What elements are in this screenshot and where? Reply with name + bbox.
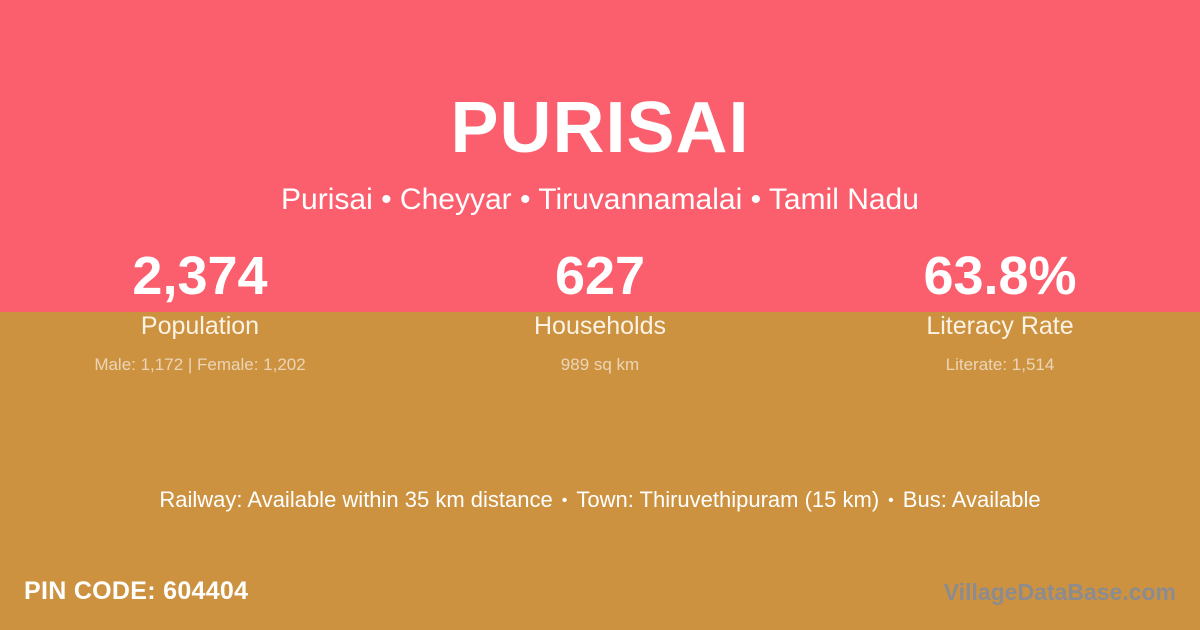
amenity-town: Town: Thiruvethipuram (15 km): [576, 487, 879, 512]
amenity-separator-1: •: [553, 492, 577, 509]
amenities-line: Railway: Available within 35 km distance…: [0, 485, 1200, 516]
pin-code: PIN CODE: 604404: [24, 575, 248, 607]
stat-sublabel: Male: 1,172 | Female: 1,202: [0, 353, 400, 377]
amenity-separator-2: •: [879, 492, 903, 509]
stat-label: Households: [400, 309, 800, 343]
page-title: PURISAI: [0, 86, 1200, 170]
stat-population: 2,374 Population Male: 1,172 | Female: 1…: [0, 244, 400, 377]
stat-value: 63.8%: [800, 244, 1200, 308]
stat-sublabel: 989 sq km: [400, 353, 800, 377]
breadcrumb: Purisai • Cheyyar • Tiruvannamalai • Tam…: [0, 182, 1200, 218]
amenity-bus: Bus: Available: [903, 487, 1041, 512]
stat-label: Literacy Rate: [800, 309, 1200, 343]
stat-value: 627: [400, 244, 800, 308]
village-info-card: PURISAI Purisai • Cheyyar • Tiruvannamal…: [0, 0, 1200, 630]
stats-row: 2,374 Population Male: 1,172 | Female: 1…: [0, 244, 1200, 377]
amenity-railway: Railway: Available within 35 km distance: [159, 487, 552, 512]
site-watermark: VillageDataBase.com: [944, 577, 1176, 607]
stat-literacy-rate: 63.8% Literacy Rate Literate: 1,514: [800, 244, 1200, 377]
stat-label: Population: [0, 309, 400, 343]
stat-sublabel: Literate: 1,514: [800, 353, 1200, 377]
card-content: PURISAI Purisai • Cheyyar • Tiruvannamal…: [0, 0, 1200, 630]
stat-value: 2,374: [0, 244, 400, 308]
stat-households: 627 Households 989 sq km: [400, 244, 800, 377]
